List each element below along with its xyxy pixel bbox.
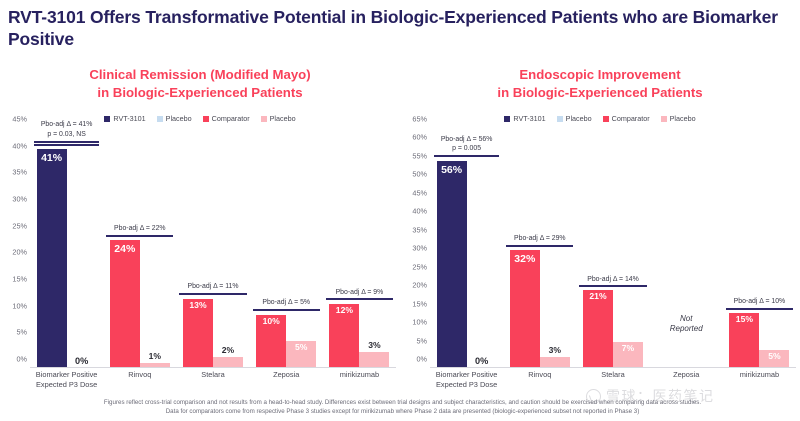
bar-treatment[interactable]: 41% — [37, 149, 67, 368]
bar-treatment[interactable]: 56% — [437, 161, 467, 368]
not-reported-line1: Not — [650, 314, 723, 324]
delta-rule — [253, 309, 320, 311]
bar-group-rinvoq: Pbo-adj Δ = 22% 24% 1% — [103, 128, 176, 368]
bar-value: 3% — [359, 340, 389, 350]
legend-item-placebo-pink[interactable]: Placebo — [261, 114, 296, 123]
bar-group-stelara: Pbo-adj Δ = 14% 21% 7% — [576, 128, 649, 368]
legend-swatch-red-icon — [603, 116, 609, 122]
y-axis-right: 0% 5% 10% 15% 20% 25% 30% 35% 40% 45% 50… — [400, 128, 430, 368]
bar-value: 5% — [759, 351, 789, 361]
delta-line1: Pbo-adj Δ = 5% — [253, 298, 320, 307]
legend-swatch-lightblue-icon — [157, 116, 163, 122]
legend-label: Placebo — [166, 114, 192, 123]
legend-swatch-navy-icon — [104, 116, 110, 122]
bar-value: 10% — [256, 316, 286, 326]
legend-item-comparator[interactable]: Comparator — [603, 114, 650, 123]
bar-treatment[interactable]: 32% — [510, 250, 540, 368]
delta-annotation: Pbo-adj Δ = 22% — [106, 224, 173, 237]
delta-line1: Pbo-adj Δ = 11% — [179, 282, 246, 291]
bar-placebo[interactable]: 5% — [759, 350, 789, 368]
delta-rule — [106, 235, 173, 237]
legend-item-comparator[interactable]: Comparator — [203, 114, 250, 123]
delta-line1: Pbo-adj Δ = 22% — [106, 224, 173, 233]
y-tick: 45% — [412, 188, 427, 197]
legend-item-placebo-blue[interactable]: Placebo — [557, 114, 592, 123]
y-tick: 20% — [412, 281, 427, 290]
category-line: Biomarker Positive — [30, 370, 103, 380]
legend-item-placebo-pink[interactable]: Placebo — [661, 114, 696, 123]
bar-value: 2% — [213, 345, 243, 355]
bar-group-zeposia: Not Reported — [650, 128, 723, 368]
bar-value: 41% — [37, 152, 67, 164]
legend-label: RVT-3101 — [513, 114, 545, 123]
delta-annotation: Pbo-adj Δ = 14% — [579, 275, 646, 288]
delta-annotation: Pbo-adj Δ = 29% — [506, 234, 573, 247]
delta-annotation: Pbo-adj Δ = 10% — [726, 297, 793, 310]
bar-value: 56% — [437, 164, 467, 176]
bar-groups-left: Pbo-adj Δ = 41% p = 0.03, NS 41% 0% — [30, 128, 396, 368]
y-tick: 10% — [12, 301, 27, 310]
bar-treatment[interactable]: 12% — [329, 304, 359, 368]
bar-treatment[interactable]: 21% — [583, 290, 613, 368]
delta-rule — [579, 285, 646, 287]
legend-item-rvt3101[interactable]: RVT-3101 — [504, 114, 545, 123]
y-tick: 40% — [412, 207, 427, 216]
chart-title-endoscopic-improvement: Endoscopic Improvement in Biologic-Exper… — [400, 66, 800, 102]
page-title: RVT-3101 Offers Transformative Potential… — [8, 6, 792, 51]
y-tick: 40% — [12, 141, 27, 150]
bar-group-biomarker-positive: Pbo-adj Δ = 56% p = 0.005 56% 0% — [430, 128, 503, 368]
y-tick: 10% — [412, 318, 427, 327]
y-tick: 30% — [412, 244, 427, 253]
bar-treatment[interactable]: 10% — [256, 315, 286, 368]
chart-panel-clinical-remission: Clinical Remission (Modified Mayo) in Bi… — [0, 62, 400, 392]
chart-title-line1: Clinical Remission (Modified Mayo) — [0, 66, 400, 84]
category-label-zeposia: Zeposia — [650, 370, 723, 390]
category-label-rinvoq: Rinvoq — [103, 370, 176, 390]
not-reported-line2: Reported — [650, 324, 723, 334]
y-axis-left: 0% 5% 10% 15% 20% 25% 30% 35% 40% 45% — [0, 128, 30, 368]
bar-group-mirikizumab: Pbo-adj Δ = 10% 15% 5% — [723, 128, 796, 368]
category-line: Expected P3 Dose — [430, 380, 503, 390]
y-tick: 5% — [16, 328, 27, 337]
y-tick: 0% — [16, 355, 27, 364]
delta-rule — [506, 245, 573, 247]
legend-swatch-pink-icon — [261, 116, 267, 122]
x-axis-categories-left: Biomarker Positive Expected P3 Dose Rinv… — [30, 370, 396, 390]
delta-rule — [179, 293, 246, 295]
bar-value: 3% — [540, 345, 570, 355]
bar-value: 0% — [467, 356, 497, 366]
bar-treatment[interactable]: 15% — [729, 313, 759, 368]
chart-panel-endoscopic-improvement: Endoscopic Improvement in Biologic-Exper… — [400, 62, 800, 392]
bar-value: 13% — [183, 300, 213, 310]
category-label-zeposia: Zeposia — [250, 370, 323, 390]
category-line: Biomarker Positive — [430, 370, 503, 380]
x-axis-line-right — [430, 367, 796, 368]
y-tick: 65% — [412, 115, 427, 124]
bar-group-mirikizumab: Pbo-adj Δ = 9% 12% 3% — [323, 128, 396, 368]
bar-group-rinvoq: Pbo-adj Δ = 29% 32% 3% — [503, 128, 576, 368]
y-tick: 30% — [12, 195, 27, 204]
legend-swatch-lightblue-icon — [557, 116, 563, 122]
legend-label: Placebo — [670, 114, 696, 123]
category-label-biomarker-positive: Biomarker Positive Expected P3 Dose — [430, 370, 503, 390]
delta-line1: Pbo-adj Δ = 9% — [326, 288, 393, 297]
category-label-mirikizumab: mirikizumab — [723, 370, 796, 390]
legend-label: Placebo — [566, 114, 592, 123]
legend-label: Comparator — [612, 114, 650, 123]
y-tick: 5% — [416, 336, 427, 345]
category-label-mirikizumab: mirikizumab — [323, 370, 396, 390]
legend-item-placebo-blue[interactable]: Placebo — [157, 114, 192, 123]
bar-group-stelara: Pbo-adj Δ = 11% 13% 2% — [176, 128, 249, 368]
bar-value: 1% — [140, 351, 170, 361]
bar-groups-right: Pbo-adj Δ = 56% p = 0.005 56% 0% Pbo-adj… — [430, 128, 796, 368]
y-tick: 35% — [12, 168, 27, 177]
delta-line1: Pbo-adj Δ = 14% — [579, 275, 646, 284]
legend-label: RVT-3101 — [113, 114, 145, 123]
delta-line1: Pbo-adj Δ = 10% — [726, 297, 793, 306]
bar-value: 5% — [286, 342, 316, 352]
delta-line1: Pbo-adj Δ = 29% — [506, 234, 573, 243]
y-tick: 35% — [412, 225, 427, 234]
plot-area-right: 0% 5% 10% 15% 20% 25% 30% 35% 40% 45% 50… — [400, 128, 800, 368]
category-label-stelara: Stelara — [576, 370, 649, 390]
plot-area-left: 0% 5% 10% 15% 20% 25% 30% 35% 40% 45% Pb… — [0, 128, 400, 368]
y-tick: 20% — [12, 248, 27, 257]
bar-group-biomarker-positive: Pbo-adj Δ = 41% p = 0.03, NS 41% 0% — [30, 128, 103, 368]
slide-root: RVT-3101 Offers Transformative Potential… — [0, 0, 800, 421]
chart-title-line2: in Biologic-Experienced Patients — [0, 84, 400, 102]
bar-value: 32% — [510, 253, 540, 265]
legend-swatch-navy-icon — [504, 116, 510, 122]
bar-placebo[interactable]: 5% — [286, 341, 316, 368]
bar-value: 15% — [729, 314, 759, 324]
not-reported-note: Not Reported — [650, 314, 723, 335]
x-axis-line-left — [30, 367, 396, 368]
delta-annotation: Pbo-adj Δ = 9% — [326, 288, 393, 301]
legend-label: Comparator — [212, 114, 250, 123]
category-label-biomarker-positive: Biomarker Positive Expected P3 Dose — [30, 370, 103, 390]
chart-title-clinical-remission: Clinical Remission (Modified Mayo) in Bi… — [0, 66, 400, 102]
footnote-line2: Data for comparators come from respectiv… — [30, 407, 775, 416]
legend-swatch-red-icon — [203, 116, 209, 122]
bar-placebo[interactable]: 3% — [359, 352, 389, 368]
y-tick: 25% — [412, 262, 427, 271]
delta-annotation: Pbo-adj Δ = 5% — [253, 298, 320, 311]
chart-legend-left: RVT-3101 Placebo Comparator Placebo — [0, 114, 400, 123]
y-tick: 25% — [12, 221, 27, 230]
footnote-line1: Figures reflect cross-trial comparison a… — [30, 398, 775, 407]
legend-item-rvt3101[interactable]: RVT-3101 — [104, 114, 145, 123]
title-divider — [0, 58, 800, 60]
bar-value: 7% — [613, 343, 643, 353]
y-tick: 15% — [12, 275, 27, 284]
bar-treatment[interactable]: 24% — [110, 240, 140, 368]
footnote: Figures reflect cross-trial comparison a… — [30, 398, 775, 417]
legend-label: Placebo — [270, 114, 296, 123]
chart-legend-right: RVT-3101 Placebo Comparator Placebo — [400, 114, 800, 123]
bar-placebo[interactable]: 0% — [67, 128, 97, 368]
bar-placebo[interactable]: 7% — [613, 342, 643, 368]
y-tick: 15% — [412, 299, 427, 308]
category-label-rinvoq: Rinvoq — [503, 370, 576, 390]
bar-treatment[interactable]: 13% — [183, 299, 213, 368]
y-tick: 55% — [412, 151, 427, 160]
chart-title-line1: Endoscopic Improvement — [400, 66, 800, 84]
y-tick: 50% — [412, 170, 427, 179]
delta-rule — [726, 308, 793, 310]
bar-value: 12% — [329, 305, 359, 315]
y-tick: 45% — [12, 115, 27, 124]
bar-value: 21% — [583, 291, 613, 301]
bar-group-zeposia: Pbo-adj Δ = 5% 10% 5% — [250, 128, 323, 368]
x-axis-categories-right: Biomarker Positive Expected P3 Dose Rinv… — [430, 370, 796, 390]
category-line: Expected P3 Dose — [30, 380, 103, 390]
delta-annotation: Pbo-adj Δ = 11% — [179, 282, 246, 295]
bar-value: 24% — [110, 243, 140, 255]
category-label-stelara: Stelara — [176, 370, 249, 390]
delta-rule — [326, 298, 393, 300]
y-tick: 60% — [412, 133, 427, 142]
bar-value: 0% — [67, 356, 97, 366]
legend-swatch-pink-icon — [661, 116, 667, 122]
y-tick: 0% — [416, 355, 427, 364]
chart-title-line2: in Biologic-Experienced Patients — [400, 84, 800, 102]
bar-placebo[interactable]: 0% — [467, 128, 497, 368]
